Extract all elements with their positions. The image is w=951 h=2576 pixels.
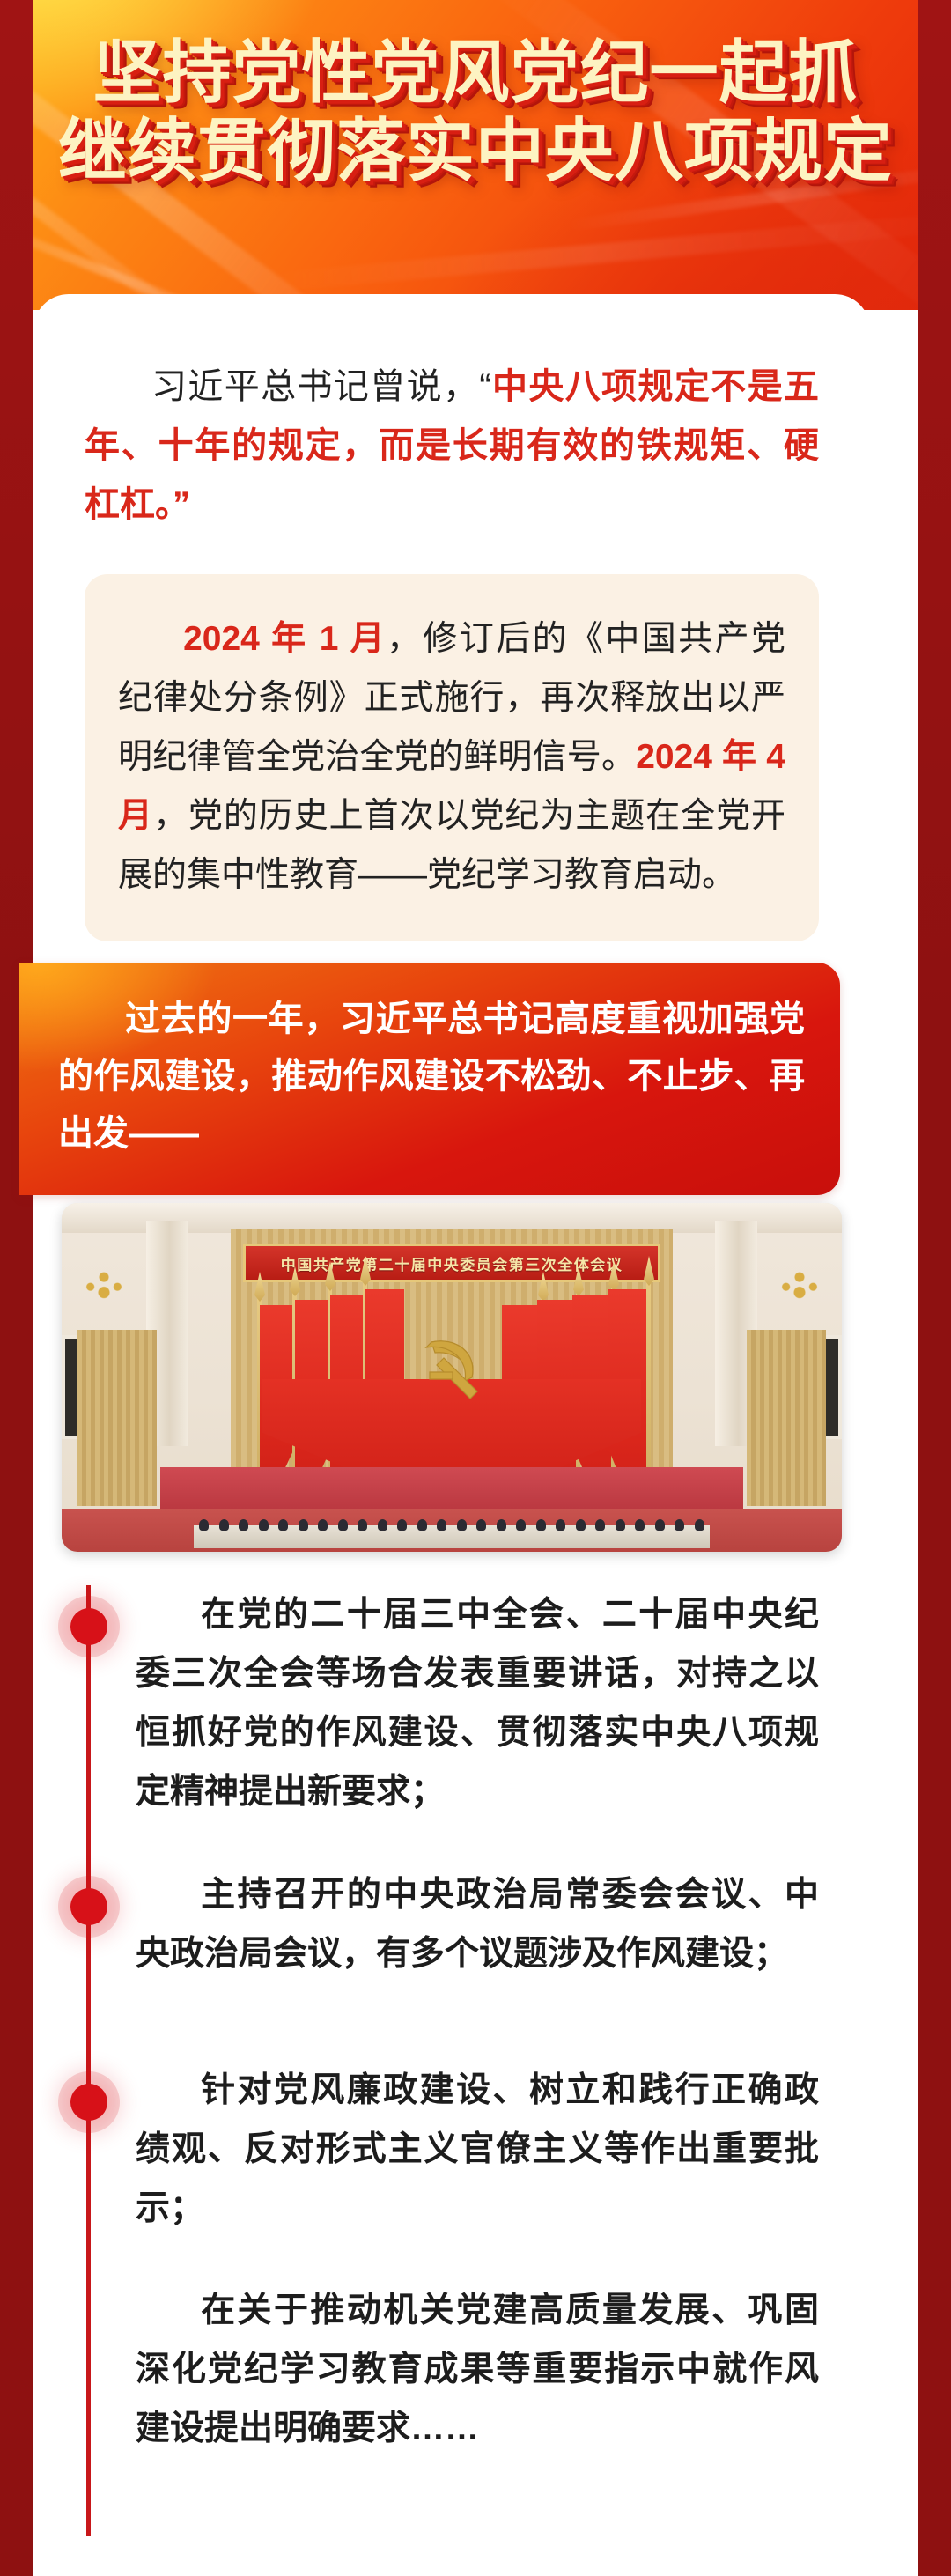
delegate-head bbox=[239, 1519, 248, 1531]
title-line-2: 继续贯彻落实中央八项规定 bbox=[0, 115, 951, 188]
delegate-head bbox=[476, 1519, 486, 1531]
delegate-head bbox=[299, 1519, 308, 1531]
delegate-head bbox=[417, 1519, 427, 1531]
timeline-bullet-dot bbox=[70, 1888, 107, 1925]
delegate-head bbox=[536, 1519, 546, 1531]
right-side-band bbox=[918, 0, 951, 2576]
timeline-item: 在关于推动机关党建高质量发展、巩固深化党纪学习教育成果等重要指示中就作风建设提出… bbox=[33, 2281, 870, 2458]
delegate-head bbox=[675, 1519, 684, 1531]
timeline-items-container: 在党的二十届三中全会、二十届中央纪委三次全会等场合发表重要讲话，对持之以恒抓好党… bbox=[33, 1585, 870, 2545]
seated-delegates bbox=[62, 1203, 842, 1552]
date-2024-01: 2024 年 1 月 bbox=[183, 620, 387, 658]
delegate-head bbox=[616, 1519, 625, 1531]
timeline-item-text: 在党的二十届三中全会、二十届中央纪委三次全会等场合发表重要讲话，对持之以恒抓好党… bbox=[136, 1585, 819, 1821]
delegate-head bbox=[219, 1519, 229, 1531]
quote-lede: 习近平总书记曾说，“ bbox=[151, 367, 491, 406]
red-banner-text: 过去的一年，习近平总书记高度重视加强党的作风建设，推动作风建设不松劲、不止步、再… bbox=[58, 991, 805, 1162]
timeline-item-text: 针对党风廉政建设、树立和践行正确政绩观、反对形式主义官僚主义等作出重要批示； bbox=[136, 2061, 819, 2238]
delegate-head bbox=[635, 1519, 645, 1531]
timeline-list: 在党的二十届三中全会、二十届中央纪委三次全会等场合发表重要讲话，对持之以恒抓好党… bbox=[33, 1585, 870, 2545]
delegate-head bbox=[655, 1519, 665, 1531]
quote-block: 习近平总书记曾说，“中央八项规定不是五年、十年的规定，而是长期有效的铁规矩、硬杠… bbox=[85, 358, 819, 535]
light-ray-6 bbox=[264, 210, 951, 292]
cream-info-box: 2024 年 1 月，修订后的《中国共产党纪律处分条例》正式施行，再次释放出以严… bbox=[85, 574, 819, 941]
delegate-head bbox=[378, 1519, 387, 1531]
delegate-head bbox=[556, 1519, 565, 1531]
delegate-head bbox=[358, 1519, 367, 1531]
delegate-head bbox=[338, 1519, 348, 1531]
delegate-head bbox=[259, 1519, 269, 1531]
infographic-page: 坚持党性党风党纪一起抓 继续贯彻落实中央八项规定 习近平总书记曾说，“中央八项规… bbox=[0, 0, 951, 2576]
timeline-item: 在党的二十届三中全会、二十届中央纪委三次全会等场合发表重要讲话，对持之以恒抓好党… bbox=[33, 1585, 870, 1821]
timeline-item: 针对党风廉政建设、树立和践行正确政绩观、反对形式主义官僚主义等作出重要批示； bbox=[33, 2061, 870, 2238]
timeline-bullet-dot bbox=[70, 1608, 107, 1645]
delegate-head bbox=[595, 1519, 605, 1531]
timeline-item: 主持召开的中央政治局常委会会议、中央政治局会议，有多个议题涉及作风建设； bbox=[33, 1865, 870, 1983]
timeline-item-text: 在关于推动机关党建高质量发展、巩固深化党纪学习教育成果等重要指示中就作风建设提出… bbox=[136, 2281, 819, 2458]
delegate-head bbox=[497, 1519, 506, 1531]
delegate-head bbox=[318, 1519, 328, 1531]
delegate-head bbox=[199, 1519, 209, 1531]
delegate-head bbox=[278, 1519, 288, 1531]
left-side-band bbox=[0, 0, 33, 2576]
delegate-head bbox=[576, 1519, 586, 1531]
photo-content: 中国共产党第二十届中央委员会第三次全体会议 bbox=[62, 1203, 842, 1552]
delegate-head bbox=[695, 1519, 704, 1531]
timeline-item-text: 主持召开的中央政治局常委会会议、中央政治局会议，有多个议题涉及作风建设； bbox=[136, 1865, 819, 1983]
cream-paragraph: 2024 年 1 月，修订后的《中国共产党纪律处分条例》正式施行，再次释放出以严… bbox=[118, 609, 785, 904]
delegate-head bbox=[516, 1519, 526, 1531]
red-highlight-banner: 过去的一年，习近平总书记高度重视加强党的作风建设，推动作风建设不松劲、不止步、再… bbox=[19, 963, 840, 1195]
title-line-1: 坚持党性党风党纪一起抓 bbox=[0, 37, 951, 110]
cream-text-2: ，党的历史上首次以党纪为主题在全党开展的集中性教育——党纪学习教育启动。 bbox=[118, 797, 785, 894]
plenary-session-photo: 中国共产党第二十届中央委员会第三次全体会议 bbox=[62, 1203, 842, 1552]
delegate-head bbox=[397, 1519, 407, 1531]
delegate-head bbox=[437, 1519, 446, 1531]
delegate-head bbox=[457, 1519, 467, 1531]
timeline-bullet-dot bbox=[70, 2084, 107, 2121]
page-title: 坚持党性党风党纪一起抓 继续贯彻落实中央八项规定 bbox=[0, 37, 951, 188]
